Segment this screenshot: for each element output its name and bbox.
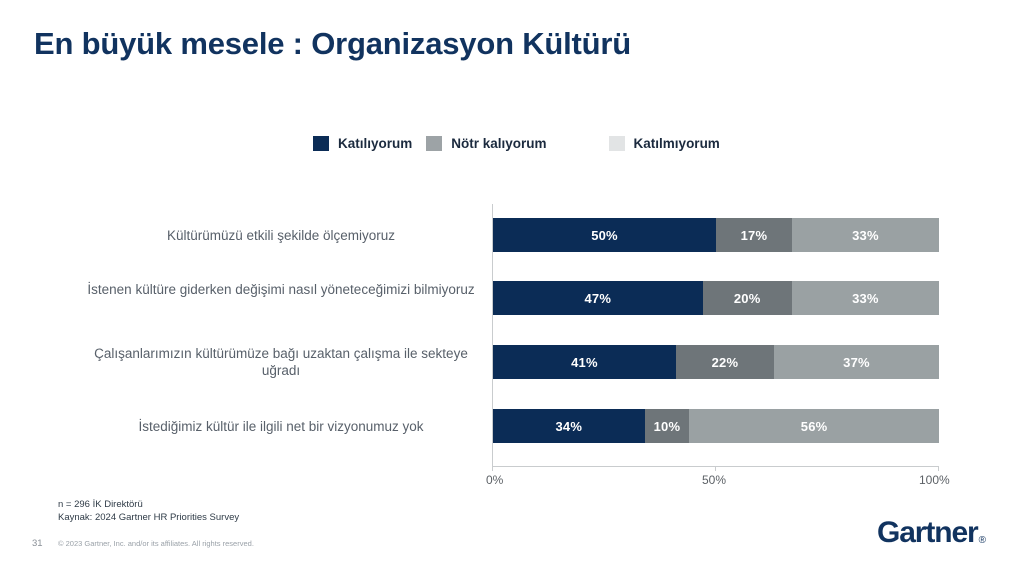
bar-value-label: 33% [852,228,879,243]
bar-value-label: 17% [741,228,768,243]
bar-segment-agree[interactable]: 34% [493,409,645,443]
bar-segment-agree[interactable]: 47% [493,281,703,315]
category-label: İstediğimiz kültür ile ilgili net bir vi… [86,418,476,435]
bar-value-label: 33% [852,291,879,306]
legend-label-disagree: Katılmıyorum [634,136,720,151]
stacked-bar: 47% 20% 33% [493,281,939,315]
gartner-logo: Gartner ® [877,518,986,548]
bar-segment-agree[interactable]: 41% [493,345,676,379]
copyright-text: © 2023 Gartner, Inc. and/or its affiliat… [58,539,254,548]
x-tick-label-100: 100% [919,473,950,487]
page-title: En büyük mesele : Organizasyon Kültürü [34,26,631,62]
category-label: İstenen kültüre giderken değişimi nasıl … [86,281,476,298]
registered-trademark-icon: ® [979,535,986,546]
legend-swatch-disagree [609,136,625,151]
x-tick-mark-0 [492,466,493,471]
bar-value-label: 37% [843,355,870,370]
legend-label-agree: Katılıyorum [338,136,412,151]
stacked-bar: 34% 10% 56% [493,409,939,443]
bar-value-label: 47% [584,291,611,306]
sample-size-line: n = 296 İK Direktörü [58,499,239,512]
bar-segment-neutral[interactable]: 22% [676,345,774,379]
legend-label-neutral: Nötr kalıyorum [451,136,546,151]
x-tick-label-50: 50% [702,473,726,487]
bar-segment-neutral[interactable]: 10% [645,409,690,443]
bar-segment-disagree[interactable]: 33% [792,281,939,315]
bar-value-label: 10% [654,419,681,434]
x-tick-label-0: 0% [486,473,503,487]
bar-value-label: 34% [555,419,582,434]
source-note: n = 296 İK Direktörü Kaynak: 2024 Gartne… [58,499,239,524]
bar-value-label: 20% [734,291,761,306]
legend-swatch-neutral [426,136,442,151]
chart-row: Kültürümüzü etkili şekilde ölçemiyoruz 5… [0,218,1024,252]
source-line: Kaynak: 2024 Gartner HR Priorities Surve… [58,512,239,525]
stacked-bar: 50% 17% 33% [493,218,939,252]
bar-segment-disagree[interactable]: 56% [689,409,939,443]
chart-row: Çalışanlarımızın kültürümüze bağı uzakta… [0,345,1024,379]
bar-value-label: 50% [591,228,618,243]
bar-value-label: 41% [571,355,598,370]
category-label: Çalışanlarımızın kültürümüze bağı uzakta… [86,345,476,379]
bar-segment-disagree[interactable]: 33% [792,218,939,252]
legend-item-agree[interactable]: Katılıyorum [313,136,412,151]
bar-segment-disagree[interactable]: 37% [774,345,939,379]
stacked-bar: 41% 22% 37% [493,345,939,379]
chart-row: İstenen kültüre giderken değişimi nasıl … [0,281,1024,315]
chart-legend: Katılıyorum Nötr kalıyorum Katılmıyorum [313,136,720,151]
x-tick-mark-100 [938,466,939,471]
stacked-bar-chart: 0% 50% 100% Kültürümüzü etkili şekilde ö… [0,196,1024,486]
page-number: 31 [32,538,43,549]
legend-item-disagree[interactable]: Katılmıyorum [609,136,720,151]
bar-segment-neutral[interactable]: 20% [703,281,792,315]
bar-segment-neutral[interactable]: 17% [716,218,792,252]
legend-swatch-agree [313,136,329,151]
chart-row: İstediğimiz kültür ile ilgili net bir vi… [0,409,1024,443]
legend-item-neutral[interactable]: Nötr kalıyorum [426,136,546,151]
bar-value-label: 56% [801,419,828,434]
logo-wordmark: Gartner [877,518,978,548]
x-tick-mark-50 [715,466,716,471]
bar-value-label: 22% [712,355,739,370]
bar-segment-agree[interactable]: 50% [493,218,716,252]
category-label: Kültürümüzü etkili şekilde ölçemiyoruz [86,227,476,244]
